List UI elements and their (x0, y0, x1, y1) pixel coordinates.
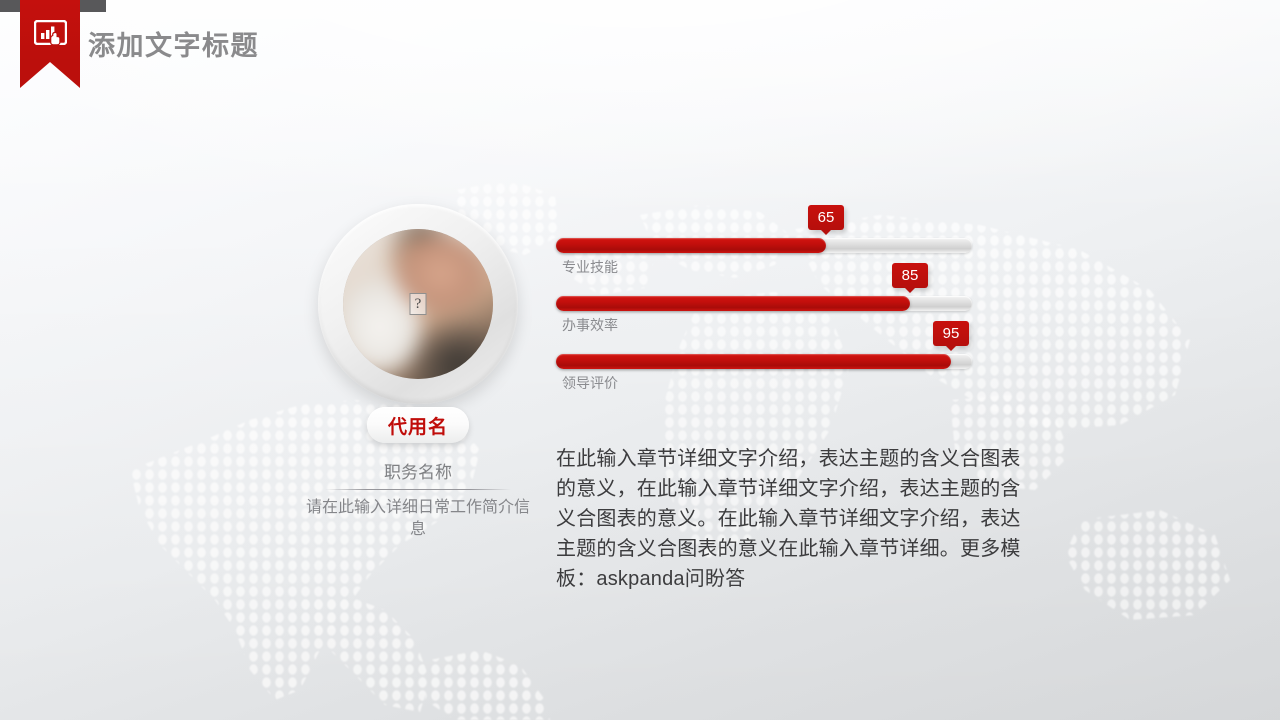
page-title: 添加文字标题 (88, 24, 259, 63)
presentation-chart-icon (34, 20, 67, 45)
profile-description: 请在此输入详细日常工作简介信息 (303, 497, 533, 541)
skill-bar-fill (556, 238, 826, 253)
skill-bar-fill (556, 354, 951, 369)
skill-bar-fill (556, 296, 910, 311)
header-ribbon (20, 0, 80, 88)
skill-value-badge: 85 (892, 263, 928, 288)
skill-bar-list: 65 专业技能 85 办事效率 95 领导评价 (556, 205, 976, 379)
skill-bar-track (556, 296, 972, 311)
image-placeholder-icon: ? (410, 293, 427, 315)
profile-divider (325, 489, 511, 490)
skill-label: 领导评价 (562, 373, 618, 393)
body-paragraph: 在此输入章节详细文字介绍，表达主题的含义合图表的意义，在此输入章节详细文字介绍，… (556, 444, 1030, 594)
ribbon-tail (20, 62, 80, 88)
profile-name: 代用名 (388, 412, 448, 439)
profile-job-title: 职务名称 (308, 458, 528, 483)
skill-item: 85 办事效率 (556, 263, 976, 321)
skill-item: 65 专业技能 (556, 205, 976, 263)
skill-bar-track (556, 238, 972, 253)
slide-canvas: 添加文字标题 ? 代用名 职务名称 请在此输入详细日常工作简介信息 65 专业技… (0, 0, 1280, 720)
avatar[interactable]: ? (318, 204, 518, 404)
skill-value-badge: 65 (808, 205, 844, 230)
slide-header: 添加文字标题 (0, 0, 1280, 110)
skill-item: 95 领导评价 (556, 321, 976, 379)
skill-bar-track (556, 354, 972, 369)
name-badge: 代用名 (367, 407, 469, 443)
skill-value-badge: 95 (933, 321, 969, 346)
avatar-image: ? (343, 229, 493, 379)
